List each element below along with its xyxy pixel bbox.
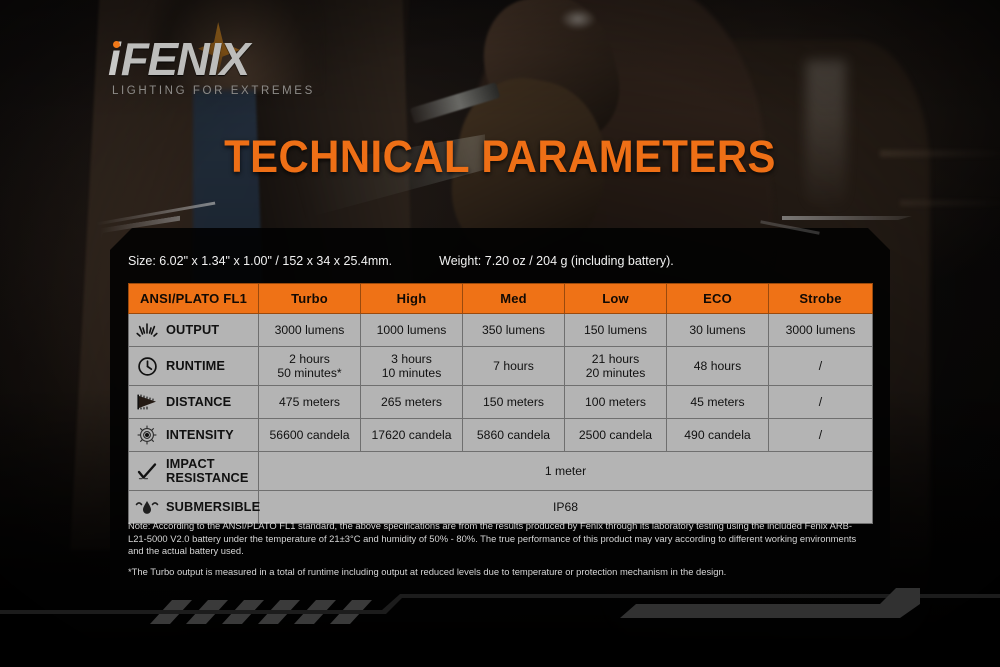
table-row: DISTANCE 475 meters 265 meters 150 meter… [129, 386, 873, 419]
panel-accent-right [782, 216, 912, 220]
row-label-text: RUNTIME [166, 358, 225, 373]
table-header: ANSI/PLATO FL1 Turbo High Med Low ECO St… [129, 284, 873, 314]
brand-name: FENIX [121, 36, 249, 82]
cell-distance-high: 265 meters [361, 386, 463, 419]
cell-output-low: 150 lumens [565, 314, 667, 347]
cell-output-med: 350 lumens [463, 314, 565, 347]
cell-intensity-high: 17620 candela [361, 419, 463, 452]
page-title: TECHNICAL PARAMETERS [35, 131, 965, 183]
beam-distance-icon [135, 391, 159, 413]
table-row: RUNTIME 2 hours 50 minutes* 3 hours 10 m… [129, 347, 873, 386]
table-row: IMPACTRESISTANCE 1 meter [129, 452, 873, 491]
row-label-distance: DISTANCE [129, 386, 259, 419]
cell-runtime-low: 21 hours 20 minutes [565, 347, 667, 386]
intensity-target-icon [135, 424, 159, 446]
cell-impact-resistance-value: 1 meter [259, 452, 873, 491]
column-header-med: Med [463, 284, 565, 314]
spec-panel-inner: Size: 6.02" x 1.34" x 1.00" / 152 x 34 x… [110, 228, 890, 590]
note-standard: Note: According to the ANSI/PLATO FL1 st… [128, 520, 868, 558]
submersible-icon [135, 496, 159, 518]
row-label-text: IMPACTRESISTANCE [166, 457, 249, 486]
cell-intensity-low: 2500 candela [565, 419, 667, 452]
cell-intensity-eco: 490 candela [667, 419, 769, 452]
table-row: SUBMERSIBLE IP68 [129, 491, 873, 524]
specifications-table: ANSI/PLATO FL1 Turbo High Med Low ECO St… [128, 283, 873, 524]
row-label-submersible: SUBMERSIBLE [129, 491, 259, 524]
cell-runtime-eco: 48 hours [667, 347, 769, 386]
column-header-high: High [361, 284, 463, 314]
cell-distance-eco: 45 meters [667, 386, 769, 419]
column-header-strobe: Strobe [769, 284, 873, 314]
column-header-eco: ECO [667, 284, 769, 314]
cell-submersible-value: IP68 [259, 491, 873, 524]
row-label-text: INTENSITY [166, 427, 234, 442]
cell-output-high: 1000 lumens [361, 314, 463, 347]
impact-label-line1: IMPACT [166, 456, 215, 471]
cell-output-eco: 30 lumens [667, 314, 769, 347]
row-label-runtime: RUNTIME [129, 347, 259, 386]
cell-distance-strobe: / [769, 386, 873, 419]
cell-runtime-med: 7 hours [463, 347, 565, 386]
bottom-decoration [0, 586, 1000, 636]
size-text: Size: 6.02" x 1.34" x 1.00" / 152 x 34 x… [128, 254, 392, 268]
brand-wordmark: i FENIX [108, 36, 249, 82]
table-row: INTENSITY 56600 candela 17620 candela 58… [129, 419, 873, 452]
row-label-text: DISTANCE [166, 394, 231, 409]
spec-panel: Size: 6.02" x 1.34" x 1.00" / 152 x 34 x… [110, 228, 890, 590]
row-label-text: SUBMERSIBLE [166, 499, 260, 514]
cell-distance-turbo: 475 meters [259, 386, 361, 419]
deco-bar-right [620, 588, 920, 618]
cell-intensity-strobe: / [769, 419, 873, 452]
cell-distance-med: 150 meters [463, 386, 565, 419]
row-label-impact-resistance: IMPACTRESISTANCE [129, 452, 259, 491]
cell-output-strobe: 3000 lumens [769, 314, 873, 347]
page-root: i FENIX LIGHTING FOR EXTREMES TECHNICAL … [0, 0, 1000, 667]
clock-icon [135, 355, 159, 377]
cell-output-turbo: 3000 lumens [259, 314, 361, 347]
brand-tagline: LIGHTING FOR EXTREMES [112, 86, 315, 98]
cell-runtime-turbo: 2 hours 50 minutes* [259, 347, 361, 386]
table-row: OUTPUT 3000 lumens 1000 lumens 350 lumen… [129, 314, 873, 347]
row-label-output: OUTPUT [129, 314, 259, 347]
notes-block: Note: According to the ANSI/PLATO FL1 st… [128, 520, 868, 579]
weight-text: Weight: 7.20 oz / 204 g (including batte… [439, 254, 674, 268]
note-turbo: *The Turbo output is measured in a total… [128, 566, 868, 579]
cell-intensity-med: 5860 candela [463, 419, 565, 452]
cell-intensity-turbo: 56600 candela [259, 419, 361, 452]
impact-resistance-icon [135, 460, 159, 482]
light-output-icon [135, 319, 159, 341]
column-header-turbo: Turbo [259, 284, 361, 314]
cell-runtime-strobe: / [769, 347, 873, 386]
table-body: OUTPUT 3000 lumens 1000 lumens 350 lumen… [129, 314, 873, 524]
brand-i-letter: i [108, 36, 120, 82]
brand-i-dot-icon [113, 41, 120, 48]
cell-runtime-high: 3 hours 10 minutes [361, 347, 463, 386]
column-header-low: Low [565, 284, 667, 314]
impact-label-line2: RESISTANCE [166, 470, 249, 485]
table-header-row: ANSI/PLATO FL1 Turbo High Med Low ECO St… [129, 284, 873, 314]
brand-logo: i FENIX LIGHTING FOR EXTREMES [108, 36, 315, 98]
size-weight-line: Size: 6.02" x 1.34" x 1.00" / 152 x 34 x… [128, 254, 674, 268]
cell-distance-low: 100 meters [565, 386, 667, 419]
row-label-intensity: INTENSITY [129, 419, 259, 452]
row-label-text: OUTPUT [166, 322, 219, 337]
column-header-ansi: ANSI/PLATO FL1 [129, 284, 259, 314]
